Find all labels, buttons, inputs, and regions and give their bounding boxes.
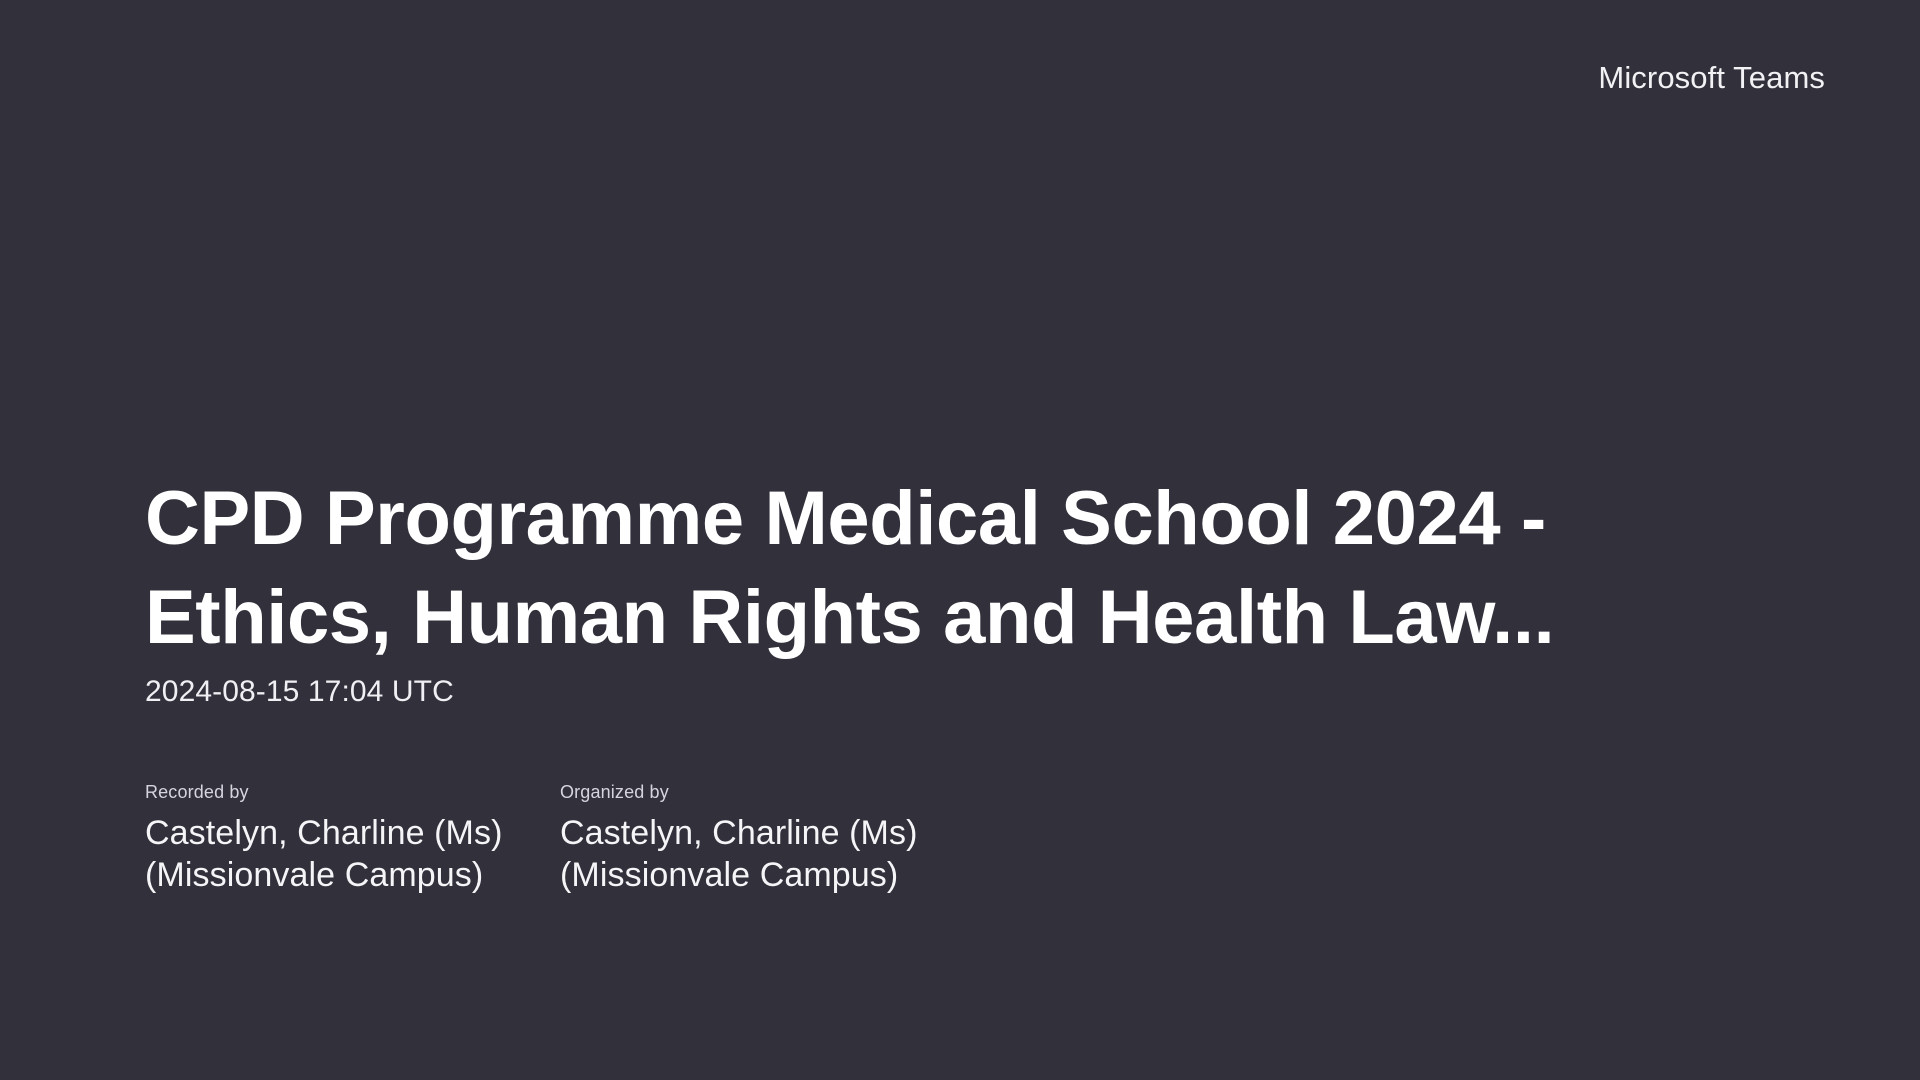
brand-watermark: Microsoft Teams [1598, 62, 1825, 93]
credit-role-label: Organized by [560, 782, 975, 804]
credit-organized-by: Organized by Castelyn, Charline (Ms) (Mi… [560, 782, 975, 897]
credits-row: Recorded by Castelyn, Charline (Ms) (Mis… [145, 782, 1845, 897]
page-title: CPD Programme Medical School 2024 - Ethi… [145, 470, 1805, 668]
recording-title-card: Microsoft Teams CPD Programme Medical Sc… [0, 0, 1920, 1080]
credit-recorded-by: Recorded by Castelyn, Charline (Ms) (Mis… [145, 782, 560, 897]
brand-label: Microsoft Teams [1598, 62, 1825, 93]
recording-timestamp: 2024-08-15 17:04 UTC [145, 674, 1845, 710]
recording-info-block: CPD Programme Medical School 2024 - Ethi… [145, 470, 1845, 896]
credit-person-name: Castelyn, Charline (Ms) (Missionvale Cam… [560, 813, 930, 896]
credit-role-label: Recorded by [145, 782, 560, 804]
credit-person-name: Castelyn, Charline (Ms) (Missionvale Cam… [145, 813, 515, 896]
